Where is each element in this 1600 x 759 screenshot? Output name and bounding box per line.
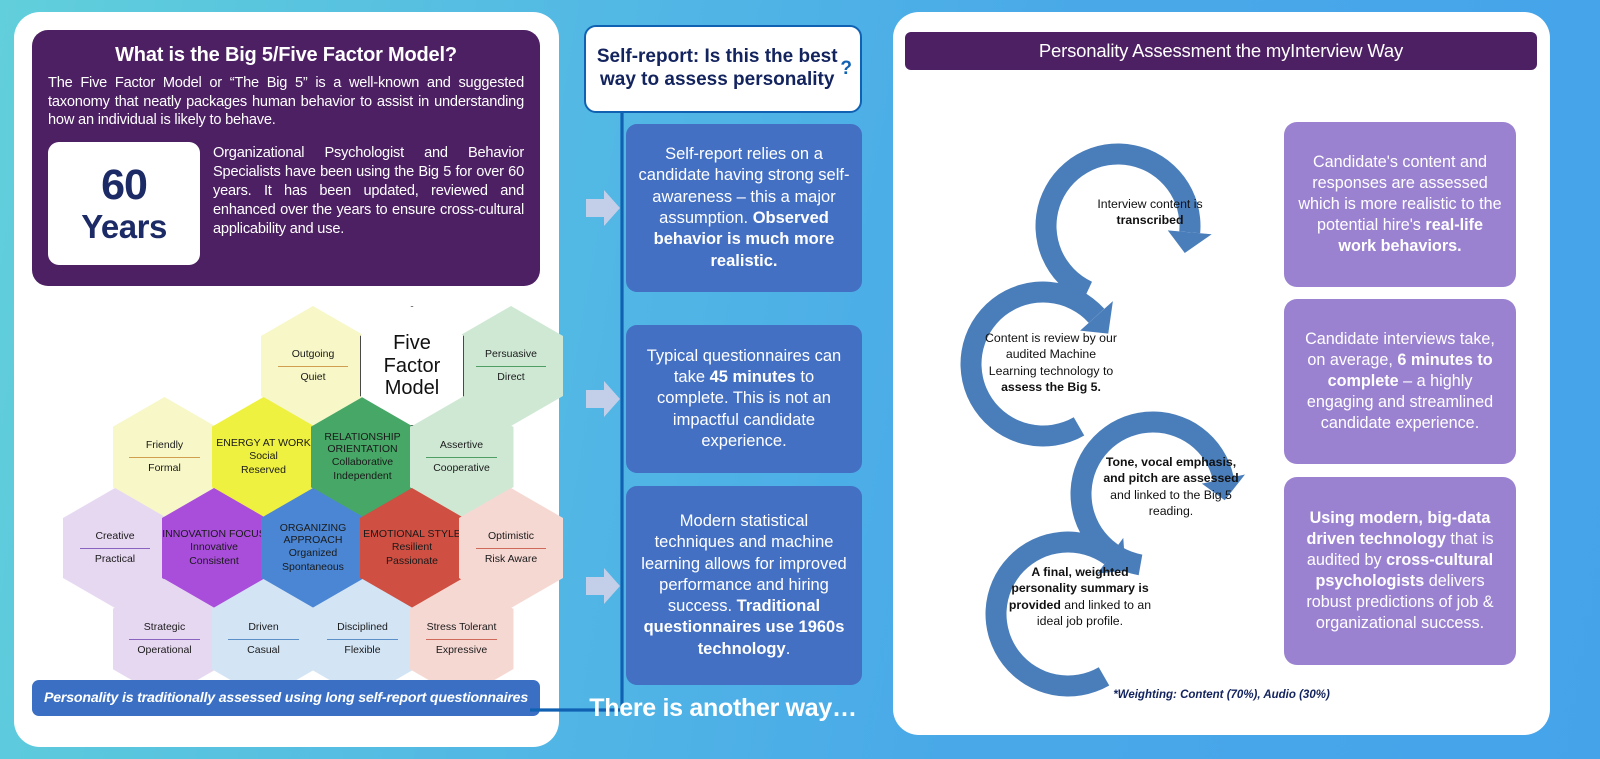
hex-trait-high: Innovative [190, 540, 238, 554]
hex-category-label: ORGANIZING APPROACH [261, 522, 365, 546]
big-five-stat-row: 60 Years Organizational Psychologist and… [48, 142, 524, 265]
another-way-caption: There is another way… [584, 694, 862, 723]
six-minutes-card: Candidate interviews take, on average, 6… [1284, 299, 1516, 464]
right-arrow-icon [584, 186, 622, 230]
hex-top-label: Outgoing [292, 348, 335, 362]
hex-trait-low: Reserved [241, 463, 286, 477]
sixty-years-stat: 60 Years [48, 142, 200, 265]
hex-bottom-label: Quiet [300, 371, 325, 385]
right-panel-header: Personality Assessment the myInterview W… [905, 32, 1537, 70]
big-data-card: Using modern, big-data driven technology… [1284, 477, 1516, 665]
hex-bottom-label: Cooperative [433, 462, 490, 476]
self-report-question-header: Self-report: Is this the best way to ass… [584, 25, 862, 113]
years-word: Years [81, 210, 167, 243]
hex-bottom-label: Practical [95, 553, 135, 567]
hex-trait-high: Organized [289, 546, 337, 560]
flow-arrowhead-1 [1168, 230, 1212, 253]
1960s-technology-card-text: Modern statistical techniques and machin… [638, 511, 850, 660]
page-title: What is the Big 5/Five Factor Model? [48, 44, 524, 67]
hex-bottom-label: Expressive [436, 644, 487, 658]
self-awareness-card-text: Self-report relies on a candidate having… [638, 144, 850, 272]
hex-trait-low: Consistent [189, 554, 239, 568]
hex-trait-low: Spontaneous [282, 560, 344, 574]
hex-trait-high: Collaborative [332, 455, 393, 469]
hex-divider [228, 639, 299, 640]
hex-top-label: Strategic [144, 621, 185, 635]
45-minutes-card-text: Typical questionnaires can take 45 minut… [638, 346, 850, 452]
hex-divider [129, 639, 200, 640]
big-data-card-text: Using modern, big-data driven technology… [1297, 508, 1503, 634]
right-panel: Personality Assessment the myInterview W… [893, 12, 1550, 735]
big-five-history-text: Organizational Psychologist and Behavior… [213, 142, 524, 265]
self-report-question-text: Self-report: Is this the best way to ass… [594, 46, 840, 92]
question-mark: ? [840, 58, 852, 81]
hex-category-label: RELATIONSHIP ORIENTATION [311, 431, 415, 455]
1960s-technology-card: Modern statistical techniques and machin… [626, 486, 862, 685]
self-awareness-card: Self-report relies on a candidate having… [626, 124, 862, 292]
transcribed-step: Interview content is transcribed [1075, 196, 1225, 229]
big-five-definition-card: What is the Big 5/Five Factor Model? The… [32, 30, 540, 286]
right-arrow-icon [584, 377, 622, 421]
hex-category-label: ENERGY AT WORK [216, 437, 311, 449]
right-arrow-icon [584, 564, 622, 608]
hex-divider [278, 366, 349, 367]
hex-top-label: Assertive [440, 439, 483, 453]
hex-trait-low: Independent [333, 469, 391, 483]
45-minutes-card: Typical questionnaires can take 45 minut… [626, 325, 862, 473]
hex-top-label: Disciplined [337, 621, 388, 635]
middle-column: Self-report: Is this the best way to ass… [584, 20, 866, 750]
years-number: 60 [101, 164, 147, 207]
hex-divider [426, 457, 497, 458]
hex-divider [327, 639, 398, 640]
final-summary-step: A final, weighted personality summary is… [1005, 564, 1155, 629]
hex-top-label: Stress Tolerant [427, 621, 497, 635]
weighting-footnote: *Weighting: Content (70%), Audio (30%) [893, 689, 1550, 701]
left-panel: What is the Big 5/Five Factor Model? The… [14, 12, 559, 747]
hex-bottom-label: Formal [148, 462, 181, 476]
hex-trait-low: Passionate [386, 554, 438, 568]
hex-category-label: EMOTIONAL STYLE [363, 528, 461, 540]
traditional-assessment-banner: Personality is traditionally assessed us… [32, 680, 540, 716]
hex-divider [426, 639, 497, 640]
hex-divider [129, 457, 200, 458]
machine-learning-step: Content is review by our audited Machine… [981, 330, 1121, 395]
six-minutes-card-text: Candidate interviews take, on average, 6… [1297, 329, 1503, 434]
hex-bottom-label: Operational [137, 644, 191, 658]
hex-center-label: Five Factor Model [384, 332, 441, 399]
hex-category-label: INNOVATION FOCUS [162, 528, 265, 540]
hex-bottom-label: Casual [247, 644, 280, 658]
hex-trait-high: Resilient [392, 540, 432, 554]
hex-top-label: Driven [248, 621, 278, 635]
five-factor-hexagon-diagram: OutgoingQuietPersuasiveDirectFriendlyFor… [14, 298, 559, 668]
hex-top-label: Creative [95, 530, 134, 544]
hex-bottom-label: Flexible [344, 644, 380, 658]
hex-divider [80, 548, 151, 549]
hex-top-label: Friendly [146, 439, 183, 453]
big-five-intro-text: The Five Factor Model or “The Big 5” is … [48, 74, 524, 130]
real-life-behaviors-card-text: Candidate's content and responses are as… [1297, 152, 1503, 257]
hex-trait-high: Social [249, 449, 278, 463]
tone-vocal-step: Tone, vocal emphasis, and pitch are asse… [1096, 454, 1246, 519]
real-life-behaviors-card: Candidate's content and responses are as… [1284, 122, 1516, 287]
